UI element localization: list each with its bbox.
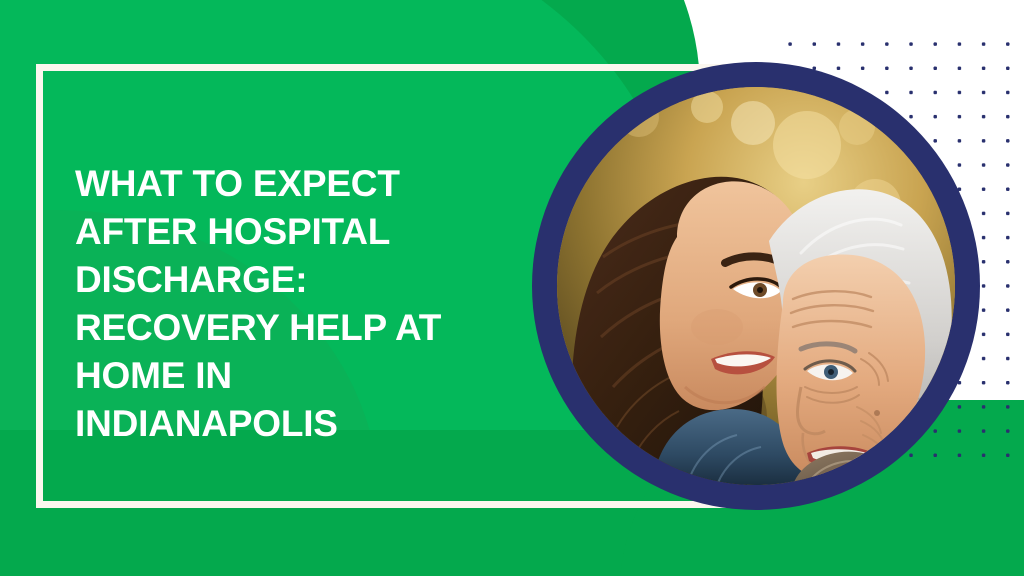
title-container: WHAT TO EXPECT AFTER HOSPITAL DISCHARGE:… bbox=[75, 160, 495, 448]
photo-ring bbox=[532, 62, 980, 510]
page-title: WHAT TO EXPECT AFTER HOSPITAL DISCHARGE:… bbox=[75, 160, 495, 448]
caregiver-photo bbox=[557, 87, 955, 485]
blog-header-banner: WHAT TO EXPECT AFTER HOSPITAL DISCHARGE:… bbox=[0, 0, 1024, 576]
